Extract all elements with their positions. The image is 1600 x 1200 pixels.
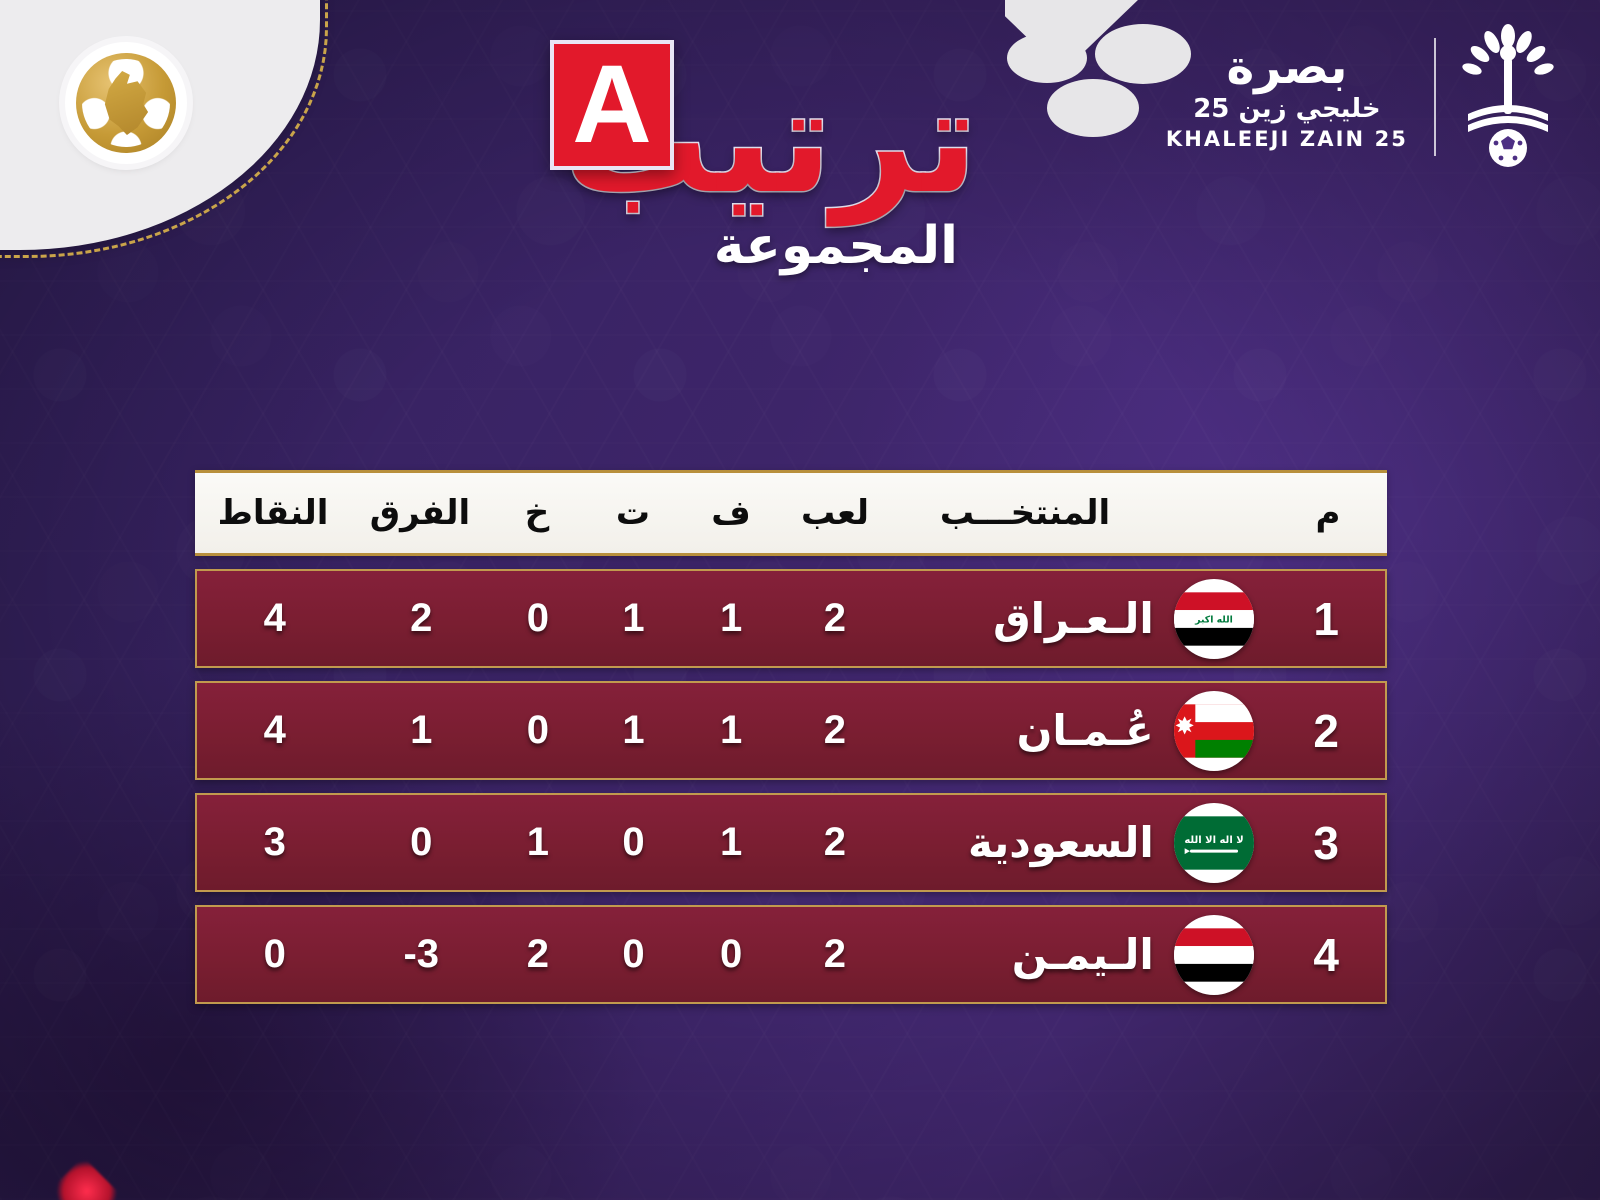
row-played: 2 <box>781 596 889 641</box>
football-icon <box>76 53 176 153</box>
group-letter-badge: A <box>550 40 674 170</box>
row-drawn: 1 <box>586 596 682 641</box>
palm-football-emblem-icon <box>1462 22 1554 172</box>
brand-divider <box>1434 38 1436 156</box>
row-spacer <box>195 668 1387 681</box>
row-rank: 2 <box>1267 704 1385 758</box>
row-points: 4 <box>197 596 352 641</box>
header-team: المنتخـــب <box>889 493 1161 533</box>
row-points: 3 <box>197 820 352 865</box>
standings-graphic: ترتيب A المجموعة <box>0 0 1600 1200</box>
row-drawn: 0 <box>586 820 682 865</box>
row-points: 0 <box>197 932 352 977</box>
row-lost: 0 <box>490 596 586 641</box>
row-goal-diff: 3- <box>352 932 490 977</box>
row-team-name: عُـمـان <box>889 706 1160 755</box>
saudi-arabia-flag-icon: لا اله الا الله <box>1174 803 1254 883</box>
brand-text-block: بصرة خليجي زين 25 KHALEEJI ZAIN 25 <box>1166 44 1408 150</box>
group-letter-text: A <box>572 50 651 160</box>
tournament-branding: بصرة خليجي زين 25 KHALEEJI ZAIN 25 <box>1166 22 1554 172</box>
row-team-name: الـيمـن <box>889 930 1160 979</box>
row-goal-diff: 1 <box>352 708 490 753</box>
gulf-map-icon <box>102 71 150 135</box>
row-team-name: الـعـراق <box>889 594 1160 643</box>
row-lost: 1 <box>490 820 586 865</box>
row-spacer <box>195 892 1387 905</box>
svg-text:الله اكبر: الله اكبر <box>1194 614 1233 625</box>
svg-text:لا اله الا الله: لا اله الا الله <box>1184 835 1243 846</box>
brand-arabic-subtitle: خليجي زين 25 <box>1166 96 1408 122</box>
yemen-flag-icon <box>1174 915 1254 995</box>
row-flag: الله اكبر <box>1160 579 1268 659</box>
row-drawn: 1 <box>586 708 682 753</box>
row-won: 1 <box>681 820 781 865</box>
brand-english-subtitle: KHALEEJI ZAIN 25 <box>1166 129 1408 150</box>
row-points: 4 <box>197 708 352 753</box>
table-header-row: م المنتخـــب لعب ف ت خ الفرق النقاط <box>195 470 1387 556</box>
row-spacer <box>195 556 1387 569</box>
gulf-cup-ball-emblem <box>65 42 187 164</box>
row-played: 2 <box>781 820 889 865</box>
row-rank: 3 <box>1267 816 1385 870</box>
row-flag: لا اله الا الله <box>1160 803 1268 883</box>
row-won: 0 <box>681 932 781 977</box>
row-won: 1 <box>681 708 781 753</box>
table-row[interactable]: 3 لا اله الا الله السعودية 2 1 0 1 0 3 <box>195 793 1387 892</box>
row-rank: 4 <box>1267 928 1385 982</box>
header-played: لعب <box>781 493 889 533</box>
row-flag <box>1160 691 1268 771</box>
table-row[interactable]: 1 الله اكبر الـعـراق 2 1 1 0 2 <box>195 569 1387 668</box>
header-drawn: ت <box>585 493 681 533</box>
row-rank: 1 <box>1267 592 1385 646</box>
row-goal-diff: 0 <box>352 820 490 865</box>
row-spacer <box>195 780 1387 793</box>
row-played: 2 <box>781 932 889 977</box>
row-team-name: السعودية <box>889 818 1160 867</box>
row-flag <box>1160 915 1268 995</box>
standings-table: م المنتخـــب لعب ف ت خ الفرق النقاط 1 <box>195 470 1387 1004</box>
header-lost: خ <box>489 493 585 533</box>
brand-city-name: بصرة <box>1166 44 1408 91</box>
table-row[interactable]: 2 عُـمـان 2 1 1 0 1 4 <box>195 681 1387 780</box>
header-rank: م <box>1269 493 1387 533</box>
header-points: النقاط <box>195 493 351 533</box>
row-drawn: 0 <box>586 932 682 977</box>
row-goal-diff: 2 <box>352 596 490 641</box>
row-lost: 2 <box>490 932 586 977</box>
header-won: ف <box>681 493 781 533</box>
title-block: ترتيب A المجموعة <box>388 24 988 282</box>
row-lost: 0 <box>490 708 586 753</box>
row-won: 1 <box>681 596 781 641</box>
header-goal-diff: الفرق <box>351 493 489 533</box>
table-row[interactable]: 4 الـيمـن 2 0 0 2 3- 0 <box>195 905 1387 1004</box>
iraq-flag-icon: الله اكبر <box>1174 579 1254 659</box>
oman-flag-icon <box>1174 691 1254 771</box>
row-played: 2 <box>781 708 889 753</box>
page-subtitle: المجموعة <box>714 216 958 276</box>
